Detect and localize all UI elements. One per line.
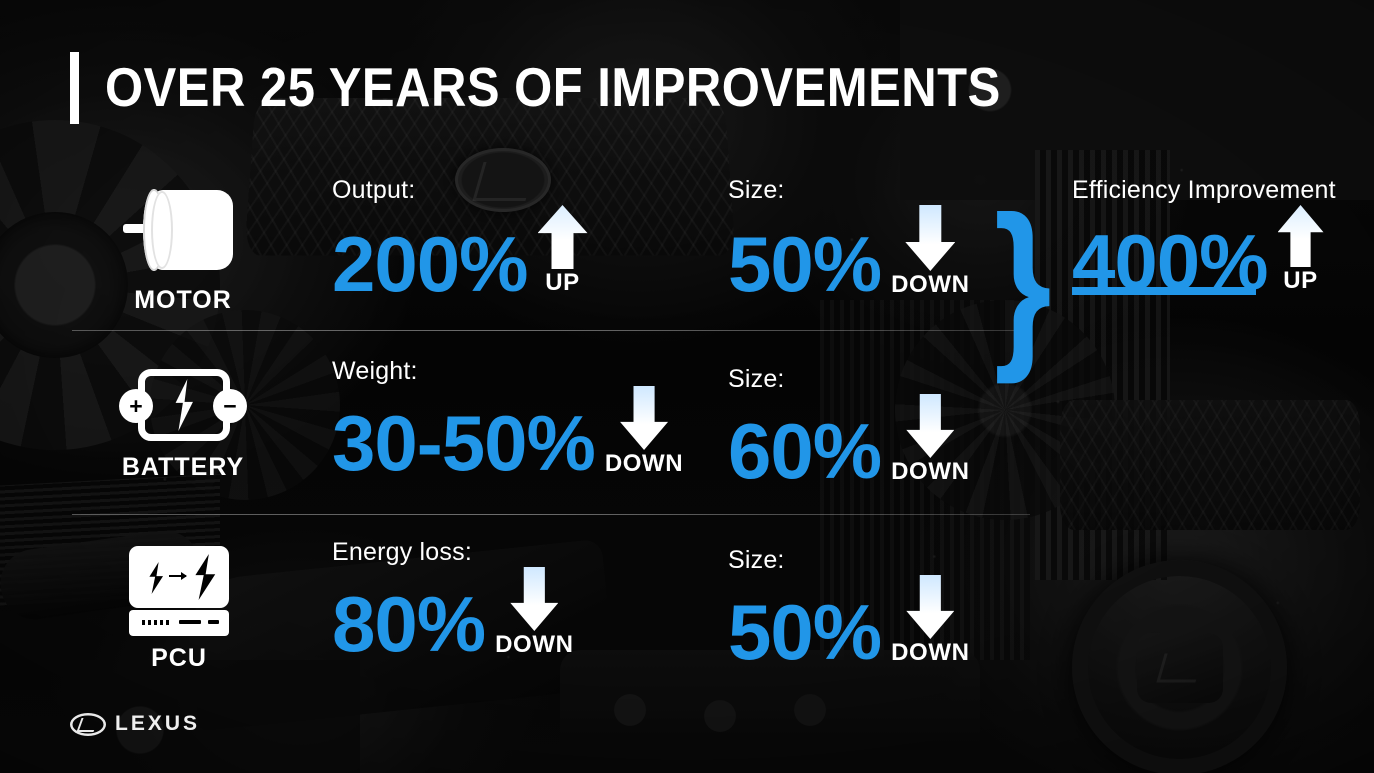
stat-direction: UP — [545, 269, 580, 297]
arrow-down-icon — [906, 575, 954, 639]
pcu-base-icon — [129, 610, 229, 636]
component-motor: MOTOR — [88, 180, 278, 315]
motor-icon — [123, 180, 243, 280]
stat-pcu-energy-loss: Energy loss: 80% DOWN — [332, 538, 574, 661]
stat-motor-output: Output: 200% UP — [332, 176, 588, 301]
stat-value: 60% — [728, 414, 881, 488]
component-label-pcu: PCU — [84, 644, 274, 673]
stat-label: Weight: — [332, 357, 683, 386]
arrow-down-icon — [510, 567, 558, 631]
pcu-connector-dash-a-icon — [179, 620, 201, 624]
motor-end-cap-inner-icon — [151, 191, 173, 269]
stat-direction: DOWN — [891, 271, 969, 299]
stat-label: Output: — [332, 176, 588, 205]
stat-value: 80% — [332, 587, 485, 661]
arrow-down-icon — [620, 386, 668, 450]
lexus-emblem-icon — [70, 713, 106, 736]
stat-pcu-size: Size: 50% DOWN — [728, 546, 970, 669]
battery-negative-terminal-icon: − — [213, 389, 247, 423]
arrow-right-icon — [169, 575, 186, 577]
brand-logo: LEXUS — [70, 712, 200, 736]
arrow-down-icon — [906, 394, 954, 458]
stat-direction: DOWN — [605, 450, 683, 478]
summary-efficiency: Efficiency Improvement 400% UP — [1072, 176, 1336, 299]
stat-label: Size: — [728, 176, 970, 205]
row-divider-2 — [72, 514, 1030, 515]
component-label-motor: MOTOR — [88, 286, 278, 315]
lightning-bolt-large-icon — [189, 554, 221, 600]
brand-name: LEXUS — [115, 712, 200, 736]
page-title: OVER 25 YEARS OF IMPROVEMENTS — [70, 52, 1001, 124]
row-divider-1 — [72, 330, 1030, 331]
stat-battery-size: Size: 60% DOWN — [728, 365, 970, 488]
summary-direction: UP — [1283, 267, 1318, 295]
summary-brace-icon: } — [994, 190, 1052, 375]
pcu-connector-dots-icon — [142, 620, 170, 625]
stat-label: Size: — [728, 365, 970, 394]
summary-label: Efficiency Improvement — [1072, 176, 1336, 205]
component-battery: + − BATTERY — [88, 363, 278, 482]
lightning-bolt-small-icon — [145, 562, 167, 594]
stat-value: 30-50% — [332, 406, 595, 480]
title-accent-bar — [70, 52, 79, 124]
arrow-up-icon — [1278, 205, 1324, 267]
stat-label: Size: — [728, 546, 970, 575]
stat-direction: DOWN — [495, 631, 573, 659]
summary-underline — [1072, 287, 1256, 295]
stat-value: 50% — [728, 227, 881, 301]
battery-icon: + − — [118, 363, 248, 447]
arrow-up-icon — [538, 205, 588, 269]
stat-value: 50% — [728, 595, 881, 669]
pcu-body-icon — [129, 546, 229, 608]
arrow-down-icon — [905, 205, 955, 271]
component-pcu: PCU — [84, 546, 274, 673]
pcu-icon — [124, 546, 234, 638]
component-label-battery: BATTERY — [88, 453, 278, 482]
stat-direction: DOWN — [891, 639, 969, 667]
stat-motor-size: Size: 50% DOWN — [728, 176, 970, 301]
title-text: OVER 25 YEARS OF IMPROVEMENTS — [105, 57, 1001, 120]
stat-direction: DOWN — [891, 458, 969, 486]
pcu-connector-dash-b-icon — [208, 620, 219, 624]
stat-battery-weight: Weight: 30-50% DOWN — [332, 357, 683, 480]
stat-label: Energy loss: — [332, 538, 574, 567]
stat-value: 200% — [332, 227, 528, 301]
battery-positive-terminal-icon: + — [119, 389, 153, 423]
